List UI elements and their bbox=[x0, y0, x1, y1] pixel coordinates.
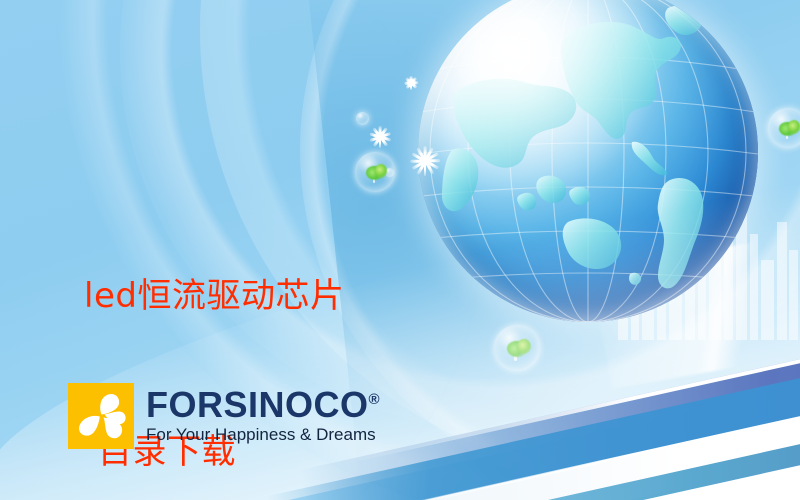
registered-trademark-icon: ® bbox=[369, 391, 381, 408]
starburst-2 bbox=[410, 146, 440, 176]
logo-text-block: FORSINOCO® For Your Happiness & Dreams bbox=[146, 382, 380, 449]
headline-line-1: led恒流驱动芯片 bbox=[84, 270, 344, 322]
bubble-orb-1 bbox=[355, 152, 395, 192]
bubble-orb-4 bbox=[356, 112, 369, 125]
starburst-3 bbox=[404, 76, 418, 90]
brand-tagline: For Your Happiness & Dreams bbox=[146, 425, 380, 445]
sprout-leaf-icon bbox=[375, 164, 387, 178]
sprout-leaf-icon bbox=[788, 120, 800, 134]
company-logo: FORSINOCO® For Your Happiness & Dreams bbox=[68, 382, 380, 449]
bubble-orb-3 bbox=[768, 108, 800, 148]
brand-name-text: FORSINOCO bbox=[146, 384, 369, 425]
presentation-slide: led恒流驱动芯片 目录下载 FORSINOCO® For Your Happi… bbox=[0, 0, 800, 500]
brand-name: FORSINOCO® bbox=[146, 382, 380, 423]
starburst-1 bbox=[369, 126, 391, 148]
slide-headline: led恒流驱动芯片 目录下载 bbox=[84, 166, 344, 500]
pinwheel-clover-icon bbox=[68, 383, 134, 449]
